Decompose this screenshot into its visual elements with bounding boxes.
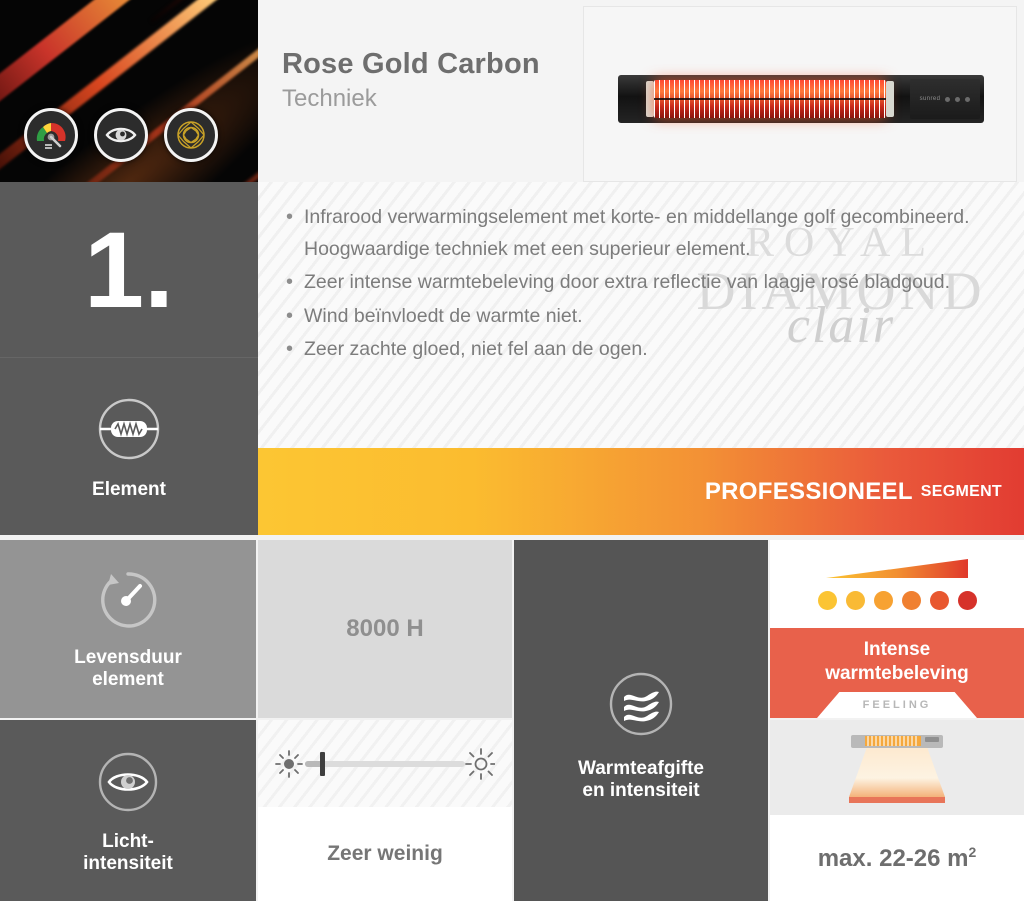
feeling-title-line2: warmtebeleving (825, 663, 969, 684)
element-label: Element (92, 479, 166, 501)
heat-label: Warmteafgifte en intensiteit (578, 758, 704, 802)
list-item: Infrarood verwarmingselement met korte- … (284, 202, 998, 265)
intensity-dot (902, 591, 921, 610)
feeling-notch: FEELING (817, 692, 977, 718)
intensity-dot-row (818, 591, 977, 610)
row-label-light: Licht- intensiteit (0, 720, 256, 901)
lifetime-label: Levensduur element (74, 647, 182, 691)
gauge-icon (24, 108, 78, 162)
light-label: Licht- intensiteit (83, 831, 173, 875)
control-dot (965, 97, 970, 102)
light-intensity-value-cell: Zeer weinig (258, 807, 512, 901)
hero-heater-photo (0, 0, 258, 182)
intensity-dot (930, 591, 949, 610)
heat-feeling-cell: Intense warmtebeleving FEELING (770, 540, 1024, 718)
control-dot (945, 97, 950, 102)
heat-label-line1: Warmteafgifte (578, 758, 704, 779)
page-title: Rose Gold Carbon (282, 48, 540, 81)
page-subtitle: Techniek (282, 85, 540, 113)
eye-icon (94, 108, 148, 162)
sun-small-icon (276, 751, 302, 777)
coverage-value: max. 22-26 m2 (818, 844, 977, 873)
title-wrap: Rose Gold Carbon Techniek (282, 48, 540, 113)
heat-label-line2: en intensiteit (582, 780, 699, 801)
light-intensity-slider-cell (258, 720, 512, 807)
intensity-dot (846, 591, 865, 610)
coverage-value-text: max. 22-26 m (818, 845, 969, 872)
feeling-banner: Intense warmtebeleving FEELING (770, 628, 1024, 718)
lifetime-value: 8000 H (346, 615, 423, 643)
feeling-title: Intense warmtebeleving (825, 638, 969, 686)
heater-brand-mark: sunred (920, 96, 941, 102)
product-image: sunred (583, 6, 1017, 182)
heater-coverage-icon (827, 727, 967, 809)
segment-banner: PROFESSIONEEL SEGMENT (258, 448, 1024, 535)
intensity-dot (874, 591, 893, 610)
list-item: Zeer intense warmtebeleving door extra r… (284, 267, 998, 299)
heat-waves-icon (603, 666, 679, 742)
intensity-dot (818, 591, 837, 610)
light-label-line2: intensiteit (83, 853, 173, 874)
light-intensity-value: Zeer weinig (327, 842, 443, 866)
sun-large-icon (466, 749, 495, 779)
control-dot (955, 97, 960, 102)
diamond-icon (164, 108, 218, 162)
heater-glowing-grill (654, 80, 886, 118)
step-number-panel: 1. (0, 182, 258, 357)
feature-bullet-list: Infrarood verwarmingselement met korte- … (258, 182, 1024, 366)
description-area: ROYAL DIAMOND clair Infrarood verwarming… (258, 182, 1024, 448)
product-spec-sheet: Rose Gold Carbon Techniek sunred 1. (0, 0, 1024, 901)
intensity-wedge-icon (826, 558, 968, 582)
lifetime-label-line1: Levensduur (74, 647, 182, 668)
brightness-slider[interactable] (275, 742, 495, 786)
feeling-title-line1: Intense (864, 639, 931, 660)
segment-sub-label: SEGMENT (921, 483, 1002, 501)
heater-control-panel: sunred (910, 79, 980, 119)
heater-end-cap (886, 81, 894, 117)
row-label-heat: Warmteafgifte en intensiteit (514, 540, 768, 901)
lifetime-value-cell: 8000 H (258, 540, 512, 718)
lifetime-label-line2: element (92, 669, 164, 690)
duration-clock-icon (95, 567, 161, 633)
intensity-dot (958, 591, 977, 610)
list-item: Wind beïnvloedt de warmte niet. (284, 301, 998, 333)
list-item: Zeer zachte gloed, niet fel aan de ogen. (284, 334, 998, 366)
heater-end-cap (646, 81, 654, 117)
coverage-diagram-cell (770, 720, 1024, 815)
heating-element-icon (93, 393, 165, 465)
row-label-lifetime: Levensduur element (0, 540, 256, 718)
heater-body: sunred (618, 75, 984, 123)
coverage-unit-exponent: 2 (968, 844, 976, 860)
light-label-line1: Licht- (102, 831, 154, 852)
row-label-element: Element (0, 357, 258, 535)
eye-icon (93, 747, 163, 817)
coverage-value-cell: max. 22-26 m2 (770, 815, 1024, 901)
feeling-label: FEELING (863, 699, 932, 711)
step-number: 1. (84, 216, 174, 324)
segment-main-label: PROFESSIONEEL (705, 478, 913, 506)
hero-badge-group (24, 108, 218, 162)
header-block: Rose Gold Carbon Techniek sunred (258, 0, 1024, 182)
intensity-gauge (770, 558, 1024, 610)
